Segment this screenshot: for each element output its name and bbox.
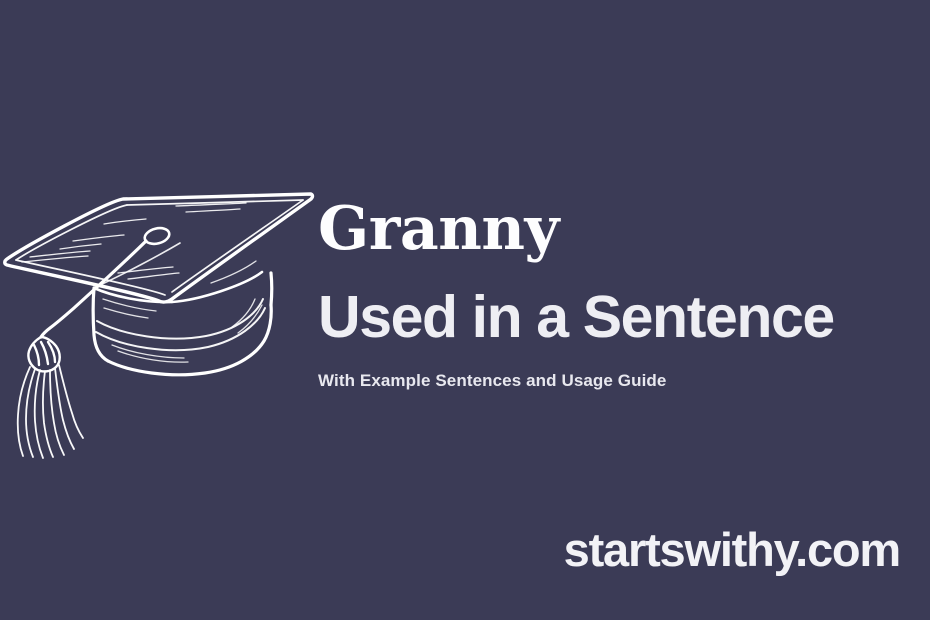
graduation-cap-icon — [0, 175, 320, 450]
page-title-phrase: Used in a Sentence — [318, 284, 918, 350]
brand-wordmark: startswithy.com — [564, 522, 900, 578]
graphic-card: Granny Used in a Sentence With Example S… — [0, 0, 930, 620]
headline-block: Granny Used in a Sentence With Example S… — [318, 196, 918, 392]
page-title-word: Granny — [318, 196, 918, 262]
page-subtitle: With Example Sentences and Usage Guide — [318, 370, 918, 392]
